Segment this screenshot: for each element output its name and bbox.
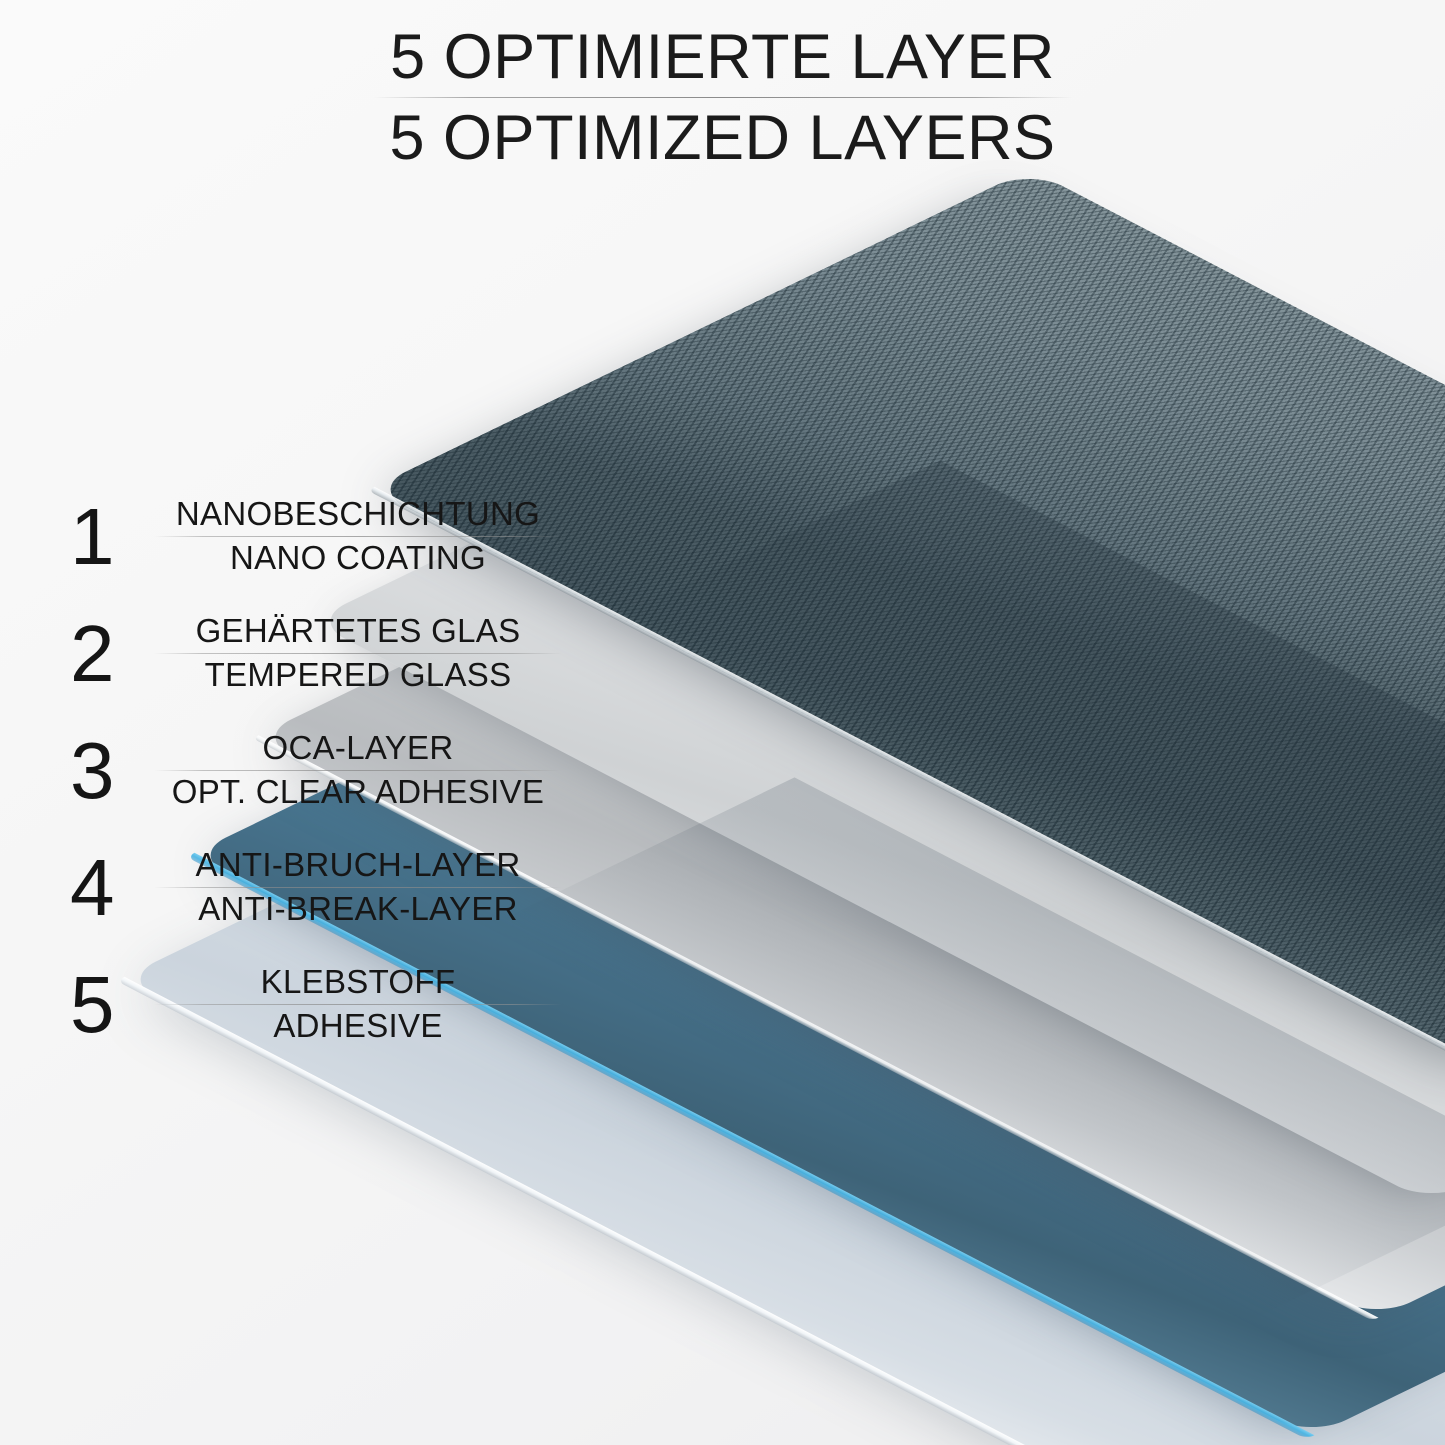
legend-text-3: OCA-LAYER OPT. CLEAR ADHESIVE bbox=[154, 729, 562, 812]
legend-rule-1 bbox=[154, 536, 562, 537]
title-line-english: 5 OPTIMIZED LAYERS bbox=[0, 103, 1445, 174]
legend-rule-2 bbox=[154, 653, 562, 654]
legend-label-en-3: OPT. CLEAR ADHESIVE bbox=[154, 773, 562, 812]
title-divider bbox=[373, 97, 1073, 98]
legend-number-3: 3 bbox=[62, 731, 154, 811]
legend-label-de-5: KLEBSTOFF bbox=[154, 963, 562, 1002]
legend-rule-4 bbox=[154, 887, 562, 888]
page-title: 5 OPTIMIERTE LAYER 5 OPTIMIZED LAYERS bbox=[0, 22, 1445, 173]
legend-text-2: GEHÄRTETES GLAS TEMPERED GLASS bbox=[154, 612, 562, 695]
legend-label-en-1: NANO COATING bbox=[154, 539, 562, 578]
legend-label-en-5: ADHESIVE bbox=[154, 1007, 562, 1046]
legend-label-de-1: NANOBESCHICHTUNG bbox=[154, 495, 562, 534]
legend-number-1: 1 bbox=[62, 497, 154, 577]
legend-number-2: 2 bbox=[62, 614, 154, 694]
legend-text-1: NANOBESCHICHTUNG NANO COATING bbox=[154, 495, 562, 578]
layer-legend: 1 NANOBESCHICHTUNG NANO COATING 2 GEHÄRT… bbox=[62, 478, 562, 1063]
title-line-german: 5 OPTIMIERTE LAYER bbox=[0, 22, 1445, 93]
legend-item-3: 3 OCA-LAYER OPT. CLEAR ADHESIVE bbox=[62, 712, 562, 829]
legend-label-en-4: ANTI-BREAK-LAYER bbox=[154, 890, 562, 929]
legend-rule-5 bbox=[154, 1004, 562, 1005]
legend-rule-3 bbox=[154, 770, 562, 771]
legend-item-5: 5 KLEBSTOFF ADHESIVE bbox=[62, 946, 562, 1063]
legend-label-de-4: ANTI-BRUCH-LAYER bbox=[154, 846, 562, 885]
infographic-canvas: 5 OPTIMIERTE LAYER 5 OPTIMIZED LAYERS 1 … bbox=[0, 0, 1445, 1445]
legend-item-2: 2 GEHÄRTETES GLAS TEMPERED GLASS bbox=[62, 595, 562, 712]
legend-label-de-3: OCA-LAYER bbox=[154, 729, 562, 768]
legend-number-5: 5 bbox=[62, 965, 154, 1045]
legend-number-4: 4 bbox=[62, 848, 154, 928]
legend-label-en-2: TEMPERED GLASS bbox=[154, 656, 562, 695]
legend-item-4: 4 ANTI-BRUCH-LAYER ANTI-BREAK-LAYER bbox=[62, 829, 562, 946]
legend-text-5: KLEBSTOFF ADHESIVE bbox=[154, 963, 562, 1046]
legend-text-4: ANTI-BRUCH-LAYER ANTI-BREAK-LAYER bbox=[154, 846, 562, 929]
legend-item-1: 1 NANOBESCHICHTUNG NANO COATING bbox=[62, 478, 562, 595]
legend-label-de-2: GEHÄRTETES GLAS bbox=[154, 612, 562, 651]
